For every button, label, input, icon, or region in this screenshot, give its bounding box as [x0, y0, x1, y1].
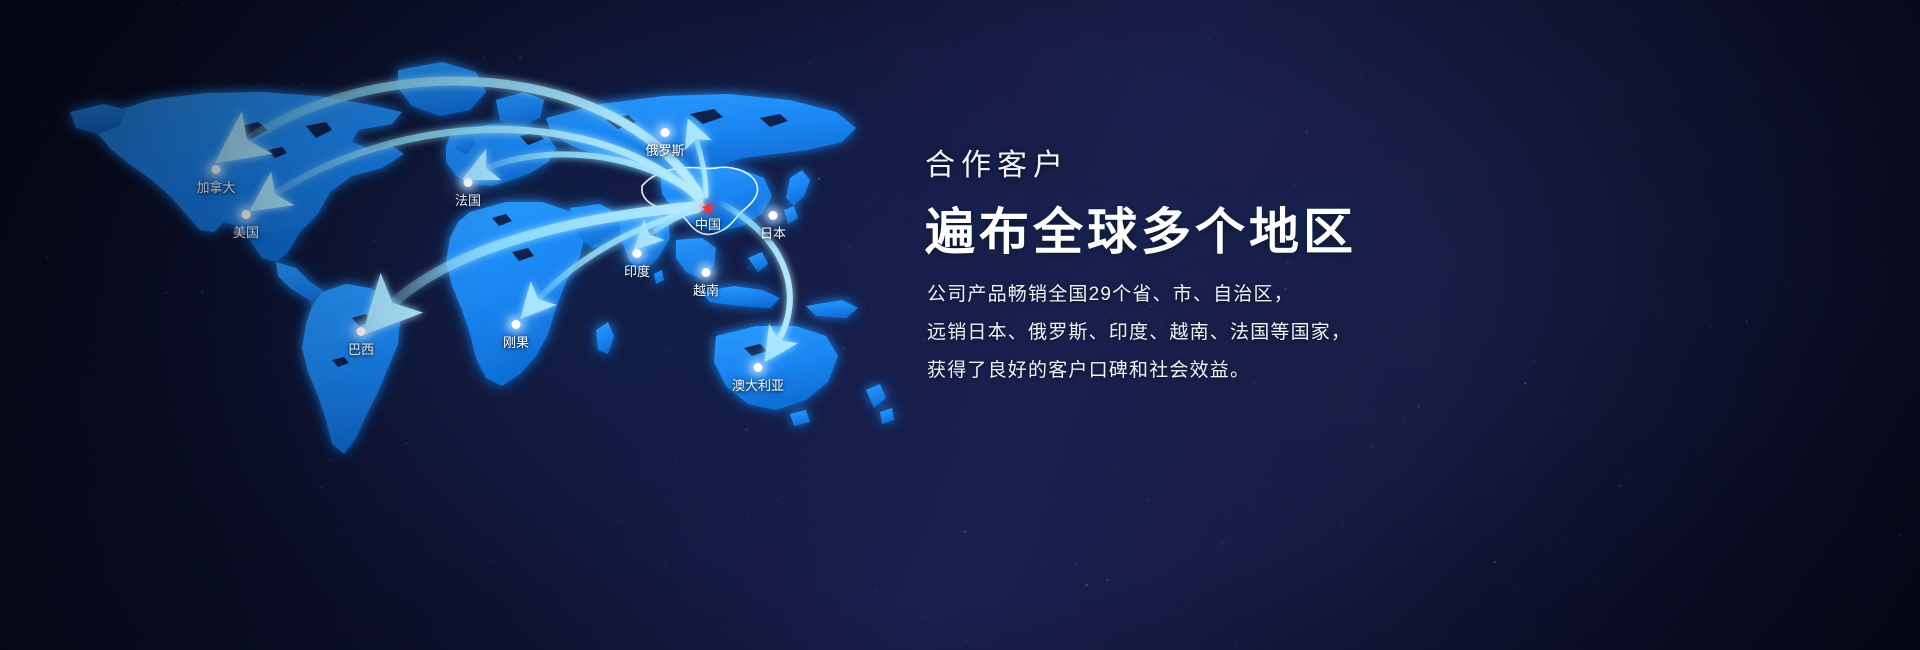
body-line-2: 远销日本、俄罗斯、印度、越南、法国等国家，	[927, 314, 1351, 352]
banner-body-copy: 公司产品畅销全国29个省、市、自治区，远销日本、俄罗斯、印度、越南、法国等国家，…	[927, 276, 1351, 390]
banner-headline: 遍布全球多个地区	[925, 192, 1357, 264]
world-map-svg	[0, 0, 960, 650]
body-line-3: 获得了良好的客户口碑和社会效益。	[927, 352, 1351, 390]
banner-eyebrow: 合作客户	[925, 140, 1069, 184]
world-map: 加拿大美国巴西法国俄罗斯印度刚果★中国日本越南澳大利亚	[0, 0, 960, 650]
body-line-1: 公司产品畅销全国29个省、市、自治区，	[927, 276, 1351, 314]
banner-text-panel: 合作客户 遍布全球多个地区 公司产品畅销全国29个省、市、自治区，远销日本、俄罗…	[925, 0, 1625, 650]
global-customers-banner: 加拿大美国巴西法国俄罗斯印度刚果★中国日本越南澳大利亚 合作客户 遍布全球多个地…	[0, 0, 1920, 650]
